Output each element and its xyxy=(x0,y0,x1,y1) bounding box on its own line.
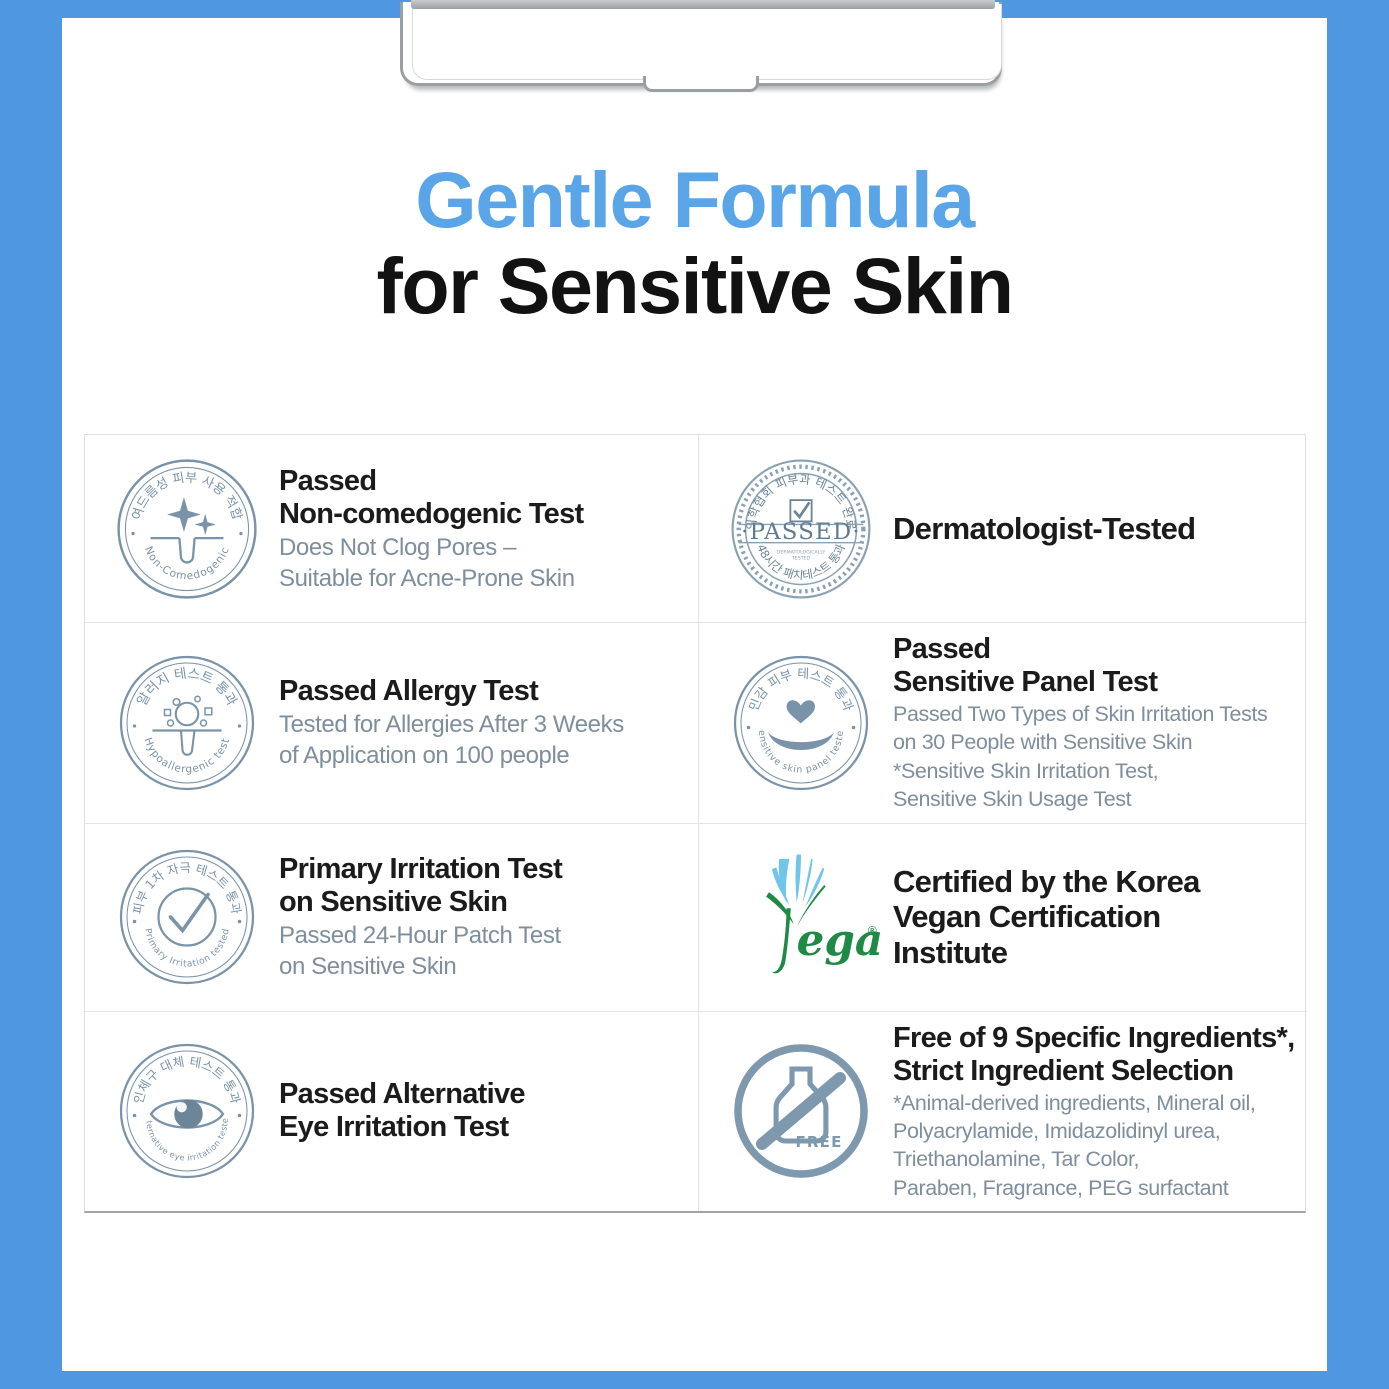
claim-sub-line-4: Sensitive Skin Usage Test xyxy=(893,787,1299,812)
claim-cell-primary-irritation-test: 피부 1차 자극 테스트 통과 Primary Irritation teste… xyxy=(85,824,699,1012)
non-comedogenic-seal-icon: 여드름성 피부 사용 적합 Non-Comedogenic xyxy=(103,453,271,605)
claim-cell-non-comedogenic: 여드름성 피부 사용 적합 Non-Comedogenic Passed xyxy=(85,435,699,623)
claim-cell-alternative-eye-irritation: 인체구 대체 테스트 통과 Alternative eye irritation… xyxy=(85,1012,699,1212)
infographic-page: Gentle Formula for Sensitive Skin 여드름성 피… xyxy=(0,0,1389,1389)
svg-text:®: ® xyxy=(866,923,878,937)
claim-heading-line-2: Non-comedogenic Test xyxy=(279,498,690,531)
page-title: Gentle Formula for Sensitive Skin xyxy=(62,160,1327,332)
no-bottle-free-icon: FREE xyxy=(717,1036,885,1186)
svg-text:egan: egan xyxy=(797,915,881,966)
title-line-2: for Sensitive Skin xyxy=(62,239,1327,332)
claim-text-sensitive-panel-test: Passed Sensitive Panel Test Passed Two T… xyxy=(893,633,1299,813)
claim-sub-line-2: Suitable for Acne-Prone Skin xyxy=(279,565,690,593)
claim-text-free-of-9-ingredients: Free of 9 Specific Ingredients*, Strict … xyxy=(893,1022,1299,1202)
clip-notch xyxy=(643,76,759,92)
claim-sub-line-1: Does Not Clog Pores – xyxy=(279,534,690,562)
vegan-flower-logo-icon: egan ® xyxy=(717,842,885,992)
claim-text-primary-irritation-test: Primary Irritation Test on Sensitive Ski… xyxy=(279,853,690,981)
title-line-1: Gentle Formula xyxy=(62,160,1327,239)
claim-sub-line-3: *Sensitive Skin Irritation Test, xyxy=(893,759,1299,784)
claim-cell-free-of-9-ingredients: FREE Free of 9 Specific Ingredients*, St… xyxy=(699,1012,1307,1212)
claim-heading-line-2: Vegan Certification xyxy=(893,899,1299,934)
claim-sub-line-1: Passed Two Types of Skin Irritation Test… xyxy=(893,702,1299,727)
claim-sub-line-1: Tested for Allergies After 3 Weeks xyxy=(279,711,690,739)
claim-heading-line-2: Sensitive Panel Test xyxy=(893,666,1299,699)
claim-heading-line-1: Passed xyxy=(279,465,690,498)
claim-heading-line-1: Primary Irritation Test xyxy=(279,853,690,886)
claim-sub-line-2: of Application on 100 people xyxy=(279,742,690,770)
claim-text-korea-vegan-certified: Certified by the Korea Vegan Certificati… xyxy=(893,864,1299,970)
claim-sub-line-3: Triethanolamine, Tar Color, xyxy=(893,1147,1299,1172)
claim-cell-allergy-test: 알러지 테스트 통과 Hypoallergenic test xyxy=(85,623,699,824)
eye-irritation-seal-icon: 인체구 대체 테스트 통과 Alternative eye irritation… xyxy=(103,1036,271,1186)
claim-sub-line-1: *Animal-derived ingredients, Mineral oil… xyxy=(893,1091,1299,1116)
claim-sub-line-4: Paraben, Fragrance, PEG surfactant xyxy=(893,1176,1299,1201)
claim-sub-line-1: Passed 24-Hour Patch Test xyxy=(279,922,690,950)
claim-heading-line-2: on Sensitive Skin xyxy=(279,886,690,919)
claim-heading-line-1: Dermatologist-Tested xyxy=(893,511,1299,546)
svg-text:인체구 대체 테스트 통과: 인체구 대체 테스트 통과 xyxy=(131,1054,244,1106)
claim-heading-line-2: Eye Irritation Test xyxy=(279,1111,690,1144)
claim-text-non-comedogenic: Passed Non-comedogenic Test Does Not Clo… xyxy=(279,465,690,593)
claim-heading-line-1: Passed Alternative xyxy=(279,1078,690,1111)
hypoallergenic-seal-icon: 알러지 테스트 통과 Hypoallergenic test xyxy=(103,648,271,798)
clipboard-clip-icon xyxy=(397,0,1009,96)
passed-stamp-icon: 의학협회 피부과 테스트 완료 48시간 패치테스트 통과 ·PASSED· D… xyxy=(717,453,885,605)
claim-sub-line-2: Polyacrylamide, Imidazolidinyl urea, xyxy=(893,1119,1299,1144)
primary-irritation-seal-icon: 피부 1차 자극 테스트 통과 Primary Irritation teste… xyxy=(103,842,271,992)
free-icon-label: FREE xyxy=(795,1133,842,1151)
svg-text:DERMATOLOGICALLY: DERMATOLOGICALLY xyxy=(777,549,826,555)
claim-cell-korea-vegan-certified: egan ® Certified by the Korea Vegan Cert… xyxy=(699,824,1307,1012)
claim-sub-line-2: on 30 People with Sensitive Skin xyxy=(893,730,1299,755)
claims-table: 여드름성 피부 사용 적합 Non-Comedogenic Passed xyxy=(84,434,1306,1213)
claim-heading-line-3: Institute xyxy=(893,935,1299,970)
claim-heading-line-1: Passed xyxy=(893,633,1299,666)
svg-text:TESTED: TESTED xyxy=(791,555,811,561)
svg-text:48시간 패치테스트 통과: 48시간 패치테스트 통과 xyxy=(754,541,848,582)
claim-heading-line-2: Strict Ingredient Selection xyxy=(893,1055,1299,1088)
clip-body xyxy=(400,2,1002,86)
clip-inner-outline xyxy=(412,4,1002,80)
claim-heading-line-1: Certified by the Korea xyxy=(893,864,1299,899)
claim-sub-line-2: on Sensitive Skin xyxy=(279,953,690,981)
claim-cell-sensitive-panel-test: 민감 피부 테스트 통과 Sensitive skin panel tested… xyxy=(699,623,1307,824)
clip-top-bar xyxy=(411,0,995,9)
svg-text:Primary Irritation tested: Primary Irritation tested xyxy=(142,928,232,970)
claim-text-allergy-test: Passed Allergy Test Tested for Allergies… xyxy=(279,675,690,770)
claim-heading-line-1: Passed Allergy Test xyxy=(279,675,690,708)
svg-text:Hypoallergenic test: Hypoallergenic test xyxy=(142,736,233,776)
claim-text-alternative-eye-irritation: Passed Alternative Eye Irritation Test xyxy=(279,1078,690,1144)
claim-heading-line-1: Free of 9 Specific Ingredients*, xyxy=(893,1022,1299,1055)
sensitive-panel-seal-icon: 민감 피부 테스트 통과 Sensitive skin panel tested xyxy=(717,648,885,798)
claim-text-dermatologist-tested: Dermatologist-Tested xyxy=(893,511,1299,546)
claim-cell-dermatologist-tested: 의학협회 피부과 테스트 완료 48시간 패치테스트 통과 ·PASSED· D… xyxy=(699,435,1307,623)
svg-text:·PASSED·: ·PASSED· xyxy=(741,518,861,544)
